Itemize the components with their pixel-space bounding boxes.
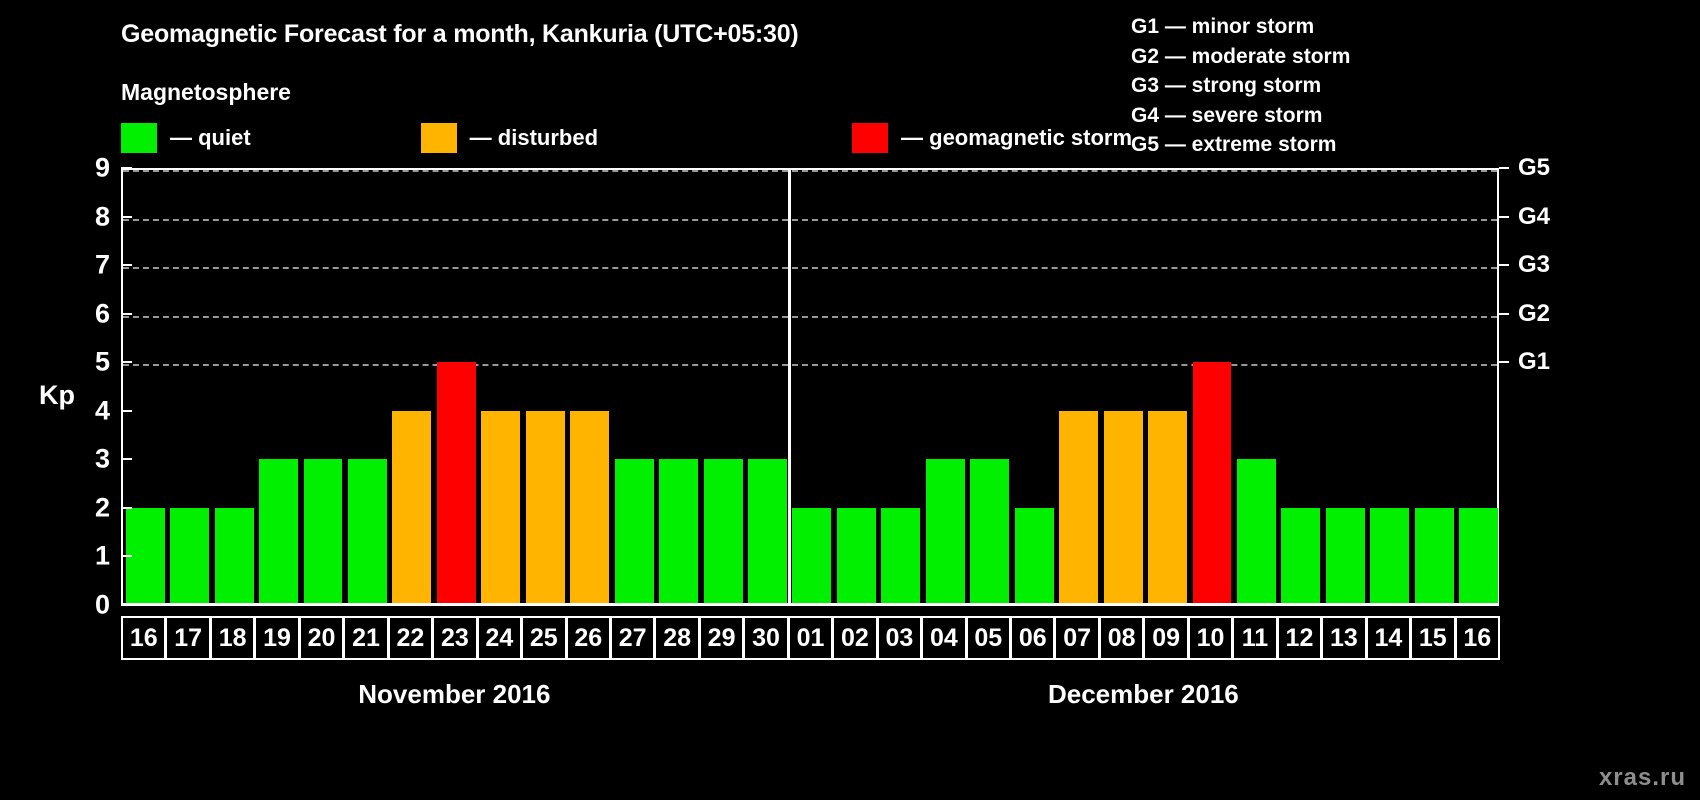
- y-tick-8: 8: [50, 201, 110, 232]
- day-label-3: 19: [254, 616, 299, 660]
- y-tick-5: 5: [50, 347, 110, 378]
- day-label-8: 24: [477, 616, 522, 660]
- bar-27: [615, 459, 654, 605]
- day-label-23: 09: [1143, 616, 1188, 660]
- x-axis-line: [121, 603, 1499, 606]
- day-label-7: 23: [432, 616, 477, 660]
- bar-29: [704, 459, 743, 605]
- legend-swatch-disturbed: [421, 123, 457, 153]
- day-label-10: 26: [566, 616, 611, 660]
- y-tick-2: 2: [50, 492, 110, 523]
- bar-04: [926, 459, 965, 605]
- legend-swatch-quiet: [121, 123, 157, 153]
- month-divider: [788, 170, 791, 605]
- y-axis-title: Kp: [39, 380, 75, 411]
- month-label-2: December 2016: [1048, 679, 1239, 710]
- page-title: Geomagnetic Forecast for a month, Kankur…: [121, 20, 799, 49]
- legend-label-disturbed: — disturbed: [470, 125, 598, 151]
- day-label-0: 16: [121, 616, 166, 660]
- day-label-18: 04: [921, 616, 966, 660]
- g-axis-tick-G2: G2: [1518, 300, 1550, 328]
- day-label-14: 30: [743, 616, 788, 660]
- y-tick-mark-7: [121, 264, 132, 266]
- plot-area: [121, 168, 1499, 605]
- bar-22: [392, 411, 431, 605]
- day-label-9: 25: [521, 616, 566, 660]
- g-axis-tick-G4: G4: [1518, 203, 1550, 231]
- y-tick-mark-6: [121, 313, 132, 315]
- g-axis-tick-mark-G1: [1499, 361, 1509, 363]
- y-tick-0: 0: [50, 590, 110, 621]
- day-label-24: 10: [1188, 616, 1233, 660]
- geomagnetic-forecast-chart: Geomagnetic Forecast for a month, Kankur…: [0, 0, 1700, 800]
- y-tick-mark-1: [121, 555, 132, 557]
- bar-01: [792, 508, 831, 605]
- day-label-13: 29: [699, 616, 744, 660]
- legend-label-quiet: — quiet: [170, 125, 251, 151]
- y-tick-mark-3: [121, 458, 132, 460]
- legend-swatch-storm: [852, 123, 888, 153]
- y-tick-mark-5: [121, 361, 132, 363]
- g-axis-tick-mark-G4: [1499, 216, 1509, 218]
- bar-06: [1015, 508, 1054, 605]
- bar-15: [1415, 508, 1454, 605]
- day-label-row: 1617181920212223242526272829300102030405…: [121, 616, 1499, 660]
- bar-02: [837, 508, 876, 605]
- day-label-26: 12: [1277, 616, 1322, 660]
- legend-item-quiet: — quiet: [121, 123, 251, 153]
- g-axis-labels: G1G2G3G4G5: [1506, 0, 1596, 800]
- g-legend-line-4: G4 — severe storm: [1131, 101, 1350, 131]
- day-label-27: 13: [1321, 616, 1366, 660]
- g-axis-tick-G1: G1: [1518, 348, 1550, 376]
- bar-26: [570, 411, 609, 605]
- bar-17: [170, 508, 209, 605]
- y-tick-mark-9: [121, 167, 132, 169]
- bar-18: [215, 508, 254, 605]
- g-axis-tick-G5: G5: [1518, 154, 1550, 182]
- g-legend-line-1: G1 — minor storm: [1131, 12, 1350, 42]
- legend-item-storm: — geomagnetic storm: [852, 123, 1132, 153]
- bar-05: [970, 459, 1009, 605]
- g-axis-tick-mark-G2: [1499, 313, 1509, 315]
- legend-label-storm: — geomagnetic storm: [901, 125, 1132, 151]
- y-tick-9: 9: [50, 153, 110, 184]
- day-label-30: 16: [1455, 616, 1500, 660]
- bar-series: [123, 170, 1497, 605]
- bar-13: [1326, 508, 1365, 605]
- bar-14: [1370, 508, 1409, 605]
- day-label-21: 07: [1054, 616, 1099, 660]
- day-label-2: 18: [210, 616, 255, 660]
- day-label-1: 17: [165, 616, 210, 660]
- bar-08: [1104, 411, 1143, 605]
- g-legend-line-5: G5 — extreme storm: [1131, 130, 1350, 160]
- y-tick-mark-2: [121, 507, 132, 509]
- day-label-22: 08: [1099, 616, 1144, 660]
- bar-09: [1148, 411, 1187, 605]
- y-tick-mark-4: [121, 410, 132, 412]
- day-label-15: 01: [788, 616, 833, 660]
- g-legend-line-3: G3 — strong storm: [1131, 71, 1350, 101]
- magnetosphere-legend: — quiet— disturbed— geomagnetic storm: [121, 121, 1132, 155]
- day-label-11: 27: [610, 616, 655, 660]
- day-label-19: 05: [966, 616, 1011, 660]
- y-tick-7: 7: [50, 250, 110, 281]
- bar-19: [259, 459, 298, 605]
- day-label-6: 22: [388, 616, 433, 660]
- y-tick-mark-8: [121, 216, 132, 218]
- bar-10: [1193, 362, 1232, 605]
- magnetosphere-heading: Magnetosphere: [121, 79, 291, 106]
- y-tick-3: 3: [50, 444, 110, 475]
- month-label-1: November 2016: [358, 679, 550, 710]
- day-label-28: 14: [1366, 616, 1411, 660]
- bar-03: [881, 508, 920, 605]
- bar-20: [304, 459, 343, 605]
- bar-23: [437, 362, 476, 605]
- day-label-4: 20: [299, 616, 344, 660]
- day-label-16: 02: [832, 616, 877, 660]
- g-scale-legend: G1 — minor stormG2 — moderate stormG3 — …: [1131, 12, 1350, 160]
- y-tick-6: 6: [50, 298, 110, 329]
- bar-12: [1281, 508, 1320, 605]
- g-axis-tick-mark-G5: [1499, 167, 1509, 169]
- bar-21: [348, 459, 387, 605]
- legend-item-disturbed: — disturbed: [421, 123, 598, 153]
- bar-11: [1237, 459, 1276, 605]
- y-tick-1: 1: [50, 541, 110, 572]
- day-label-5: 21: [343, 616, 388, 660]
- g-axis-tick-G3: G3: [1518, 251, 1550, 279]
- bar-30: [748, 459, 787, 605]
- day-label-25: 11: [1232, 616, 1277, 660]
- day-label-29: 15: [1410, 616, 1455, 660]
- g-axis-tick-mark-G3: [1499, 264, 1509, 266]
- bar-07: [1059, 411, 1098, 605]
- watermark: xras.ru: [1599, 764, 1686, 792]
- g-legend-line-2: G2 — moderate storm: [1131, 42, 1350, 72]
- day-label-20: 06: [1010, 616, 1055, 660]
- day-label-12: 28: [654, 616, 699, 660]
- bar-25: [526, 411, 565, 605]
- bar-28: [659, 459, 698, 605]
- day-label-17: 03: [877, 616, 922, 660]
- bar-16: [1459, 508, 1498, 605]
- bar-24: [481, 411, 520, 605]
